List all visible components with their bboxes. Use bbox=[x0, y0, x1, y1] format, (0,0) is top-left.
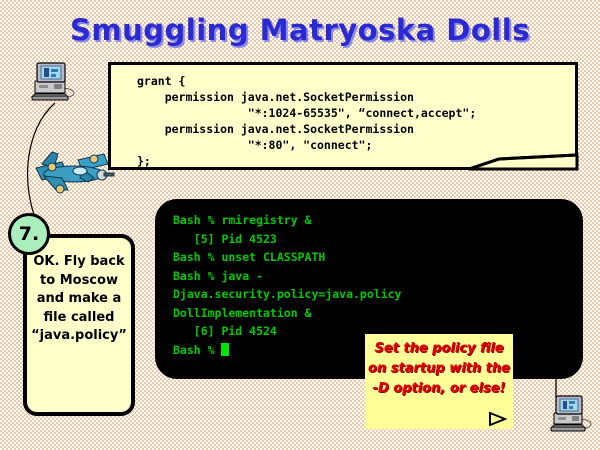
policy-file-code: grant { permission java.net.SocketPermis… bbox=[111, 65, 476, 169]
note-text: Set the policy file on startup with the … bbox=[365, 339, 513, 399]
computer-icon bbox=[548, 393, 594, 437]
note-fold-icon bbox=[489, 412, 507, 426]
speech-bubble-text: OK. Fly back to Moscow and make a file c… bbox=[27, 253, 131, 346]
step-number-badge: 7. bbox=[8, 213, 50, 255]
policy-warning-note: Set the policy file on startup with the … bbox=[365, 334, 513, 429]
airplane-icon bbox=[28, 140, 120, 202]
computer-icon bbox=[28, 60, 78, 106]
step-7-speech-bubble: OK. Fly back to Moscow and make a file c… bbox=[23, 234, 135, 416]
page-fold-icon bbox=[469, 129, 579, 171]
page-title: Smuggling Matryoska Dolls bbox=[0, 13, 600, 47]
terminal-cursor bbox=[221, 343, 229, 356]
slide-canvas: Smuggling Matryoska Dolls bbox=[0, 0, 600, 450]
policy-file-card: grant { permission java.net.SocketPermis… bbox=[108, 62, 578, 170]
